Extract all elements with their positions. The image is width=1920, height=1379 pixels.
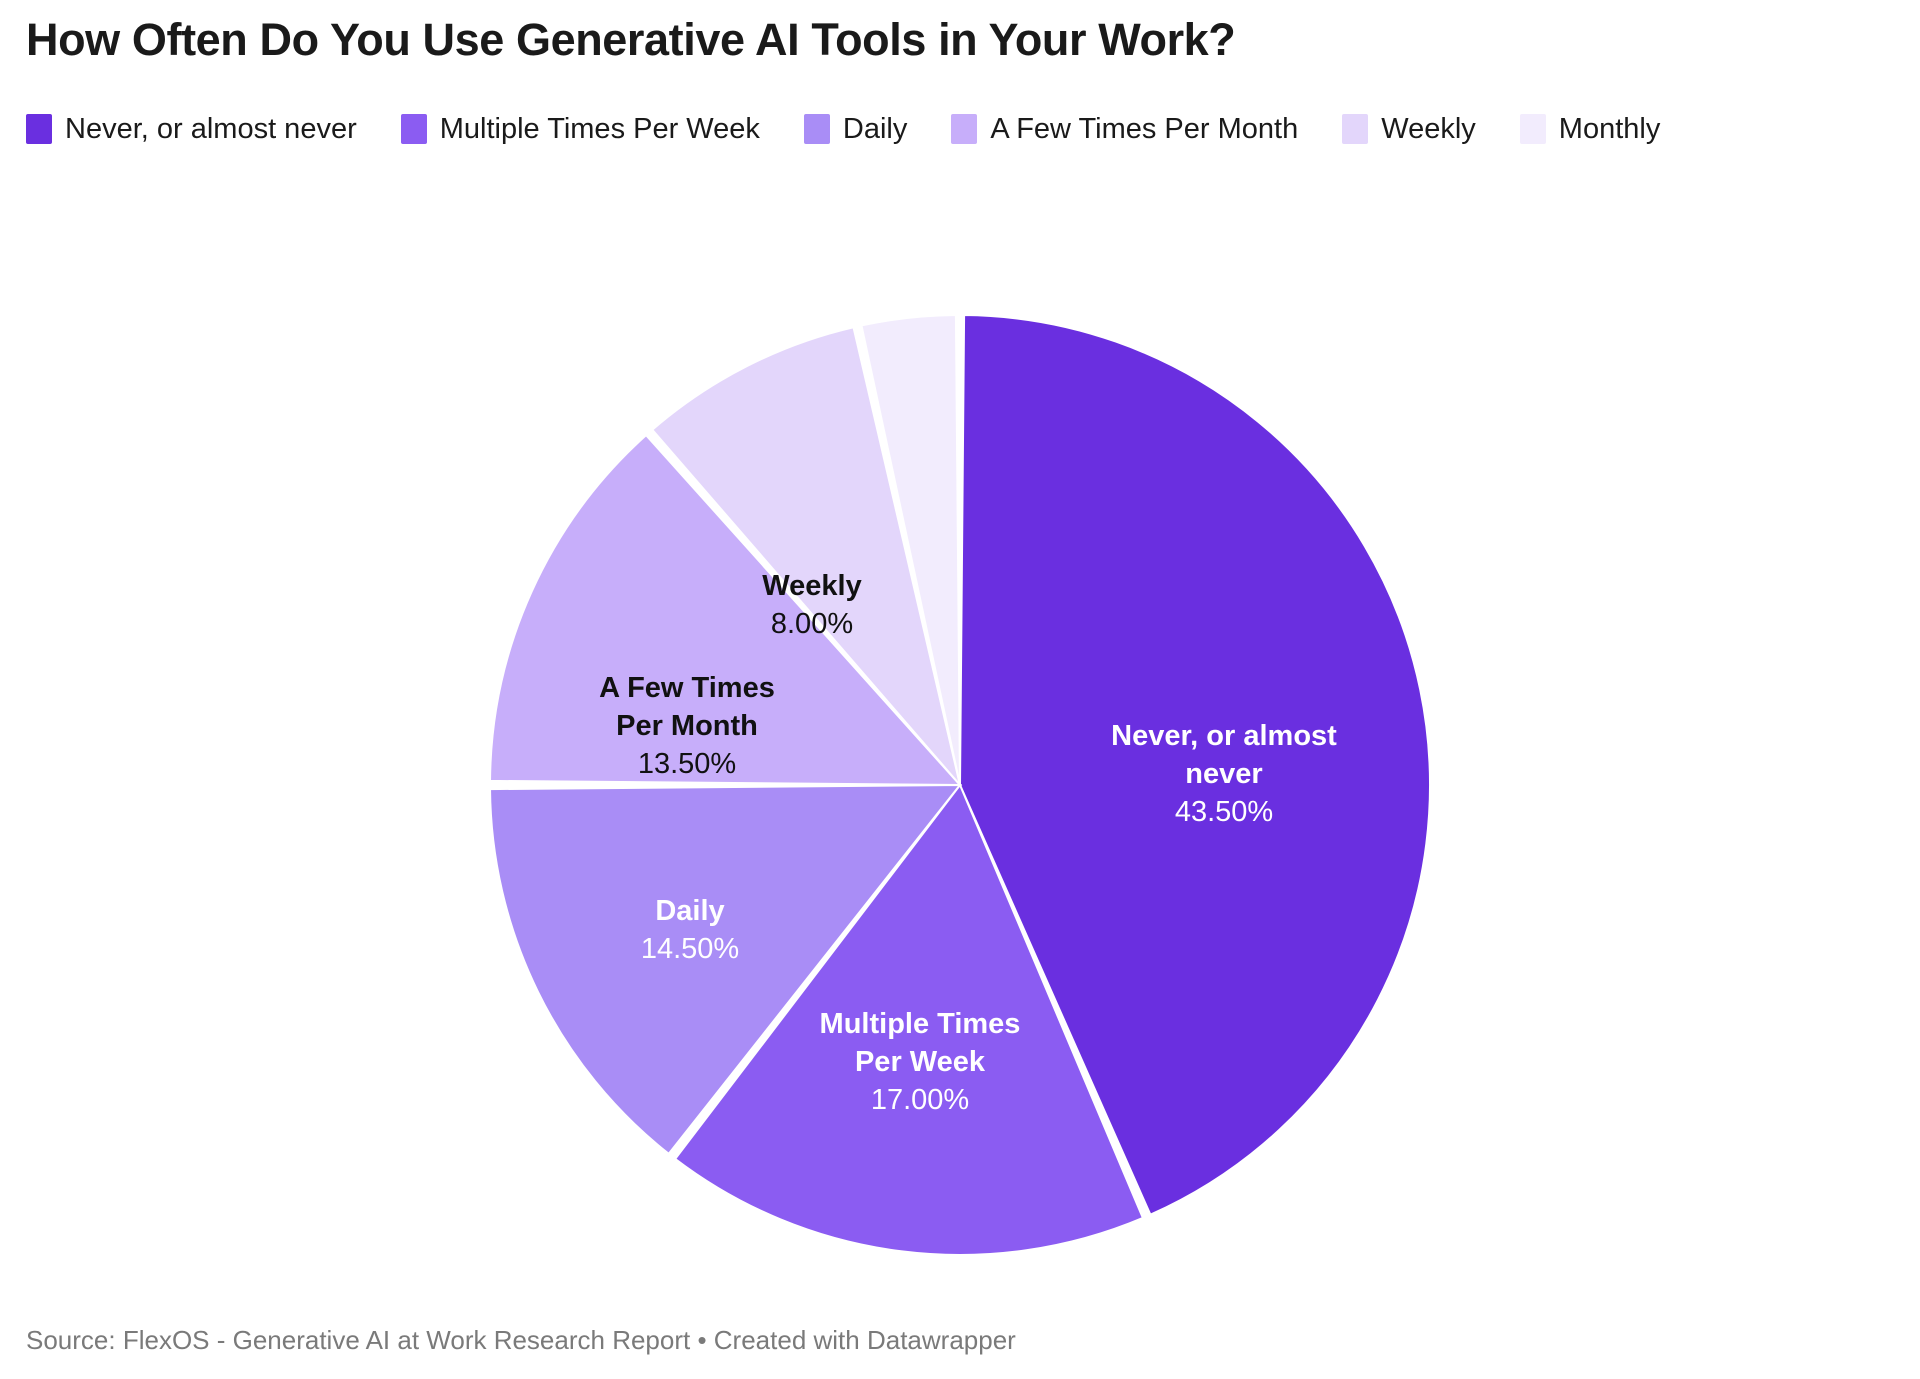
- legend-item[interactable]: Weekly: [1342, 112, 1476, 146]
- pie-chart-svg: Never, or almostnever43.50%Multiple Time…: [0, 185, 1920, 1295]
- page-title: How Often Do You Use Generative AI Tools…: [26, 14, 1235, 66]
- legend-item[interactable]: Never, or almost never: [26, 112, 357, 146]
- legend-item-label: Daily: [843, 115, 907, 144]
- legend-item-label: Multiple Times Per Week: [440, 115, 760, 144]
- source-note: Source: FlexOS - Generative AI at Work R…: [26, 1325, 1016, 1356]
- legend-color-swatch: [1342, 114, 1368, 144]
- legend-color-swatch: [804, 114, 830, 144]
- legend-item-label: Weekly: [1381, 115, 1476, 144]
- chart-legend: Never, or almost neverMultiple Times Per…: [26, 112, 1906, 146]
- legend-item[interactable]: A Few Times Per Month: [951, 112, 1298, 146]
- legend-item-label: Monthly: [1559, 115, 1661, 144]
- legend-item[interactable]: Daily: [804, 112, 907, 146]
- legend-item[interactable]: Monthly: [1520, 112, 1661, 146]
- chart-page: How Often Do You Use Generative AI Tools…: [0, 0, 1920, 1379]
- legend-item-label: Never, or almost never: [65, 115, 357, 144]
- legend-color-swatch: [401, 114, 427, 144]
- legend-color-swatch: [26, 114, 52, 144]
- legend-item[interactable]: Multiple Times Per Week: [401, 112, 760, 146]
- legend-color-swatch: [1520, 114, 1546, 144]
- pie-chart-area: Never, or almostnever43.50%Multiple Time…: [0, 185, 1920, 1295]
- legend-item-label: A Few Times Per Month: [990, 115, 1298, 144]
- legend-color-swatch: [951, 114, 977, 144]
